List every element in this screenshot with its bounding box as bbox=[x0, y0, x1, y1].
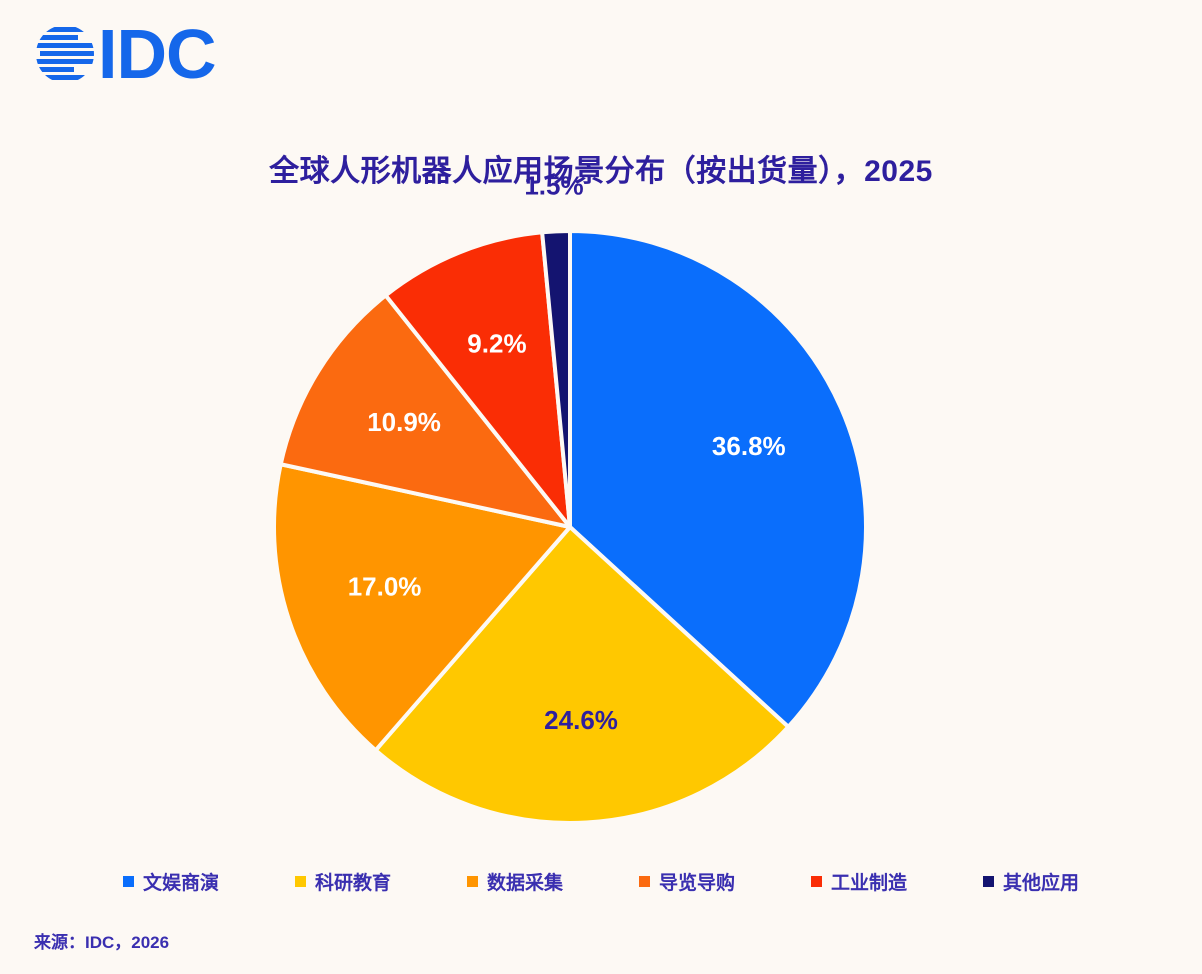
legend-item[interactable]: 文娱商演 bbox=[123, 868, 219, 895]
legend-item-label: 工业制造 bbox=[831, 868, 907, 895]
pie-slice[interactable] bbox=[376, 527, 789, 823]
legend-swatch-icon bbox=[123, 876, 134, 887]
pie-label-group: 36.8%24.6%17.0%10.9%9.2%1.5% bbox=[348, 170, 786, 735]
legend-item-label: 其他应用 bbox=[1003, 868, 1079, 895]
pie-slice[interactable] bbox=[542, 231, 570, 527]
legend-item-label: 科研教育 bbox=[315, 868, 391, 895]
legend-item[interactable]: 导览导购 bbox=[639, 868, 735, 895]
pie-slice[interactable] bbox=[274, 464, 570, 750]
legend-item[interactable]: 其他应用 bbox=[983, 868, 1079, 895]
idc-logo: IDC bbox=[34, 16, 216, 92]
chart-legend: 文娱商演科研教育数据采集导览导购工业制造其他应用 bbox=[0, 868, 1202, 895]
chart-title: 全球人形机器人应用场景分布（按出货量），2025 bbox=[0, 146, 1202, 190]
pie-slice[interactable] bbox=[570, 231, 866, 727]
pie-slice-label: 9.2% bbox=[467, 329, 526, 359]
pie-slice[interactable] bbox=[281, 295, 570, 527]
legend-swatch-icon bbox=[811, 876, 822, 887]
idc-logo-text: IDC bbox=[98, 23, 216, 85]
source-note: 来源：IDC，2026 bbox=[34, 928, 169, 953]
legend-swatch-icon bbox=[295, 876, 306, 887]
legend-swatch-icon bbox=[983, 876, 994, 887]
legend-item-label: 数据采集 bbox=[487, 868, 563, 895]
legend-item-label: 文娱商演 bbox=[143, 868, 219, 895]
legend-item[interactable]: 数据采集 bbox=[467, 868, 563, 895]
pie-slice-label: 17.0% bbox=[348, 571, 422, 601]
legend-item[interactable]: 工业制造 bbox=[811, 868, 907, 895]
legend-swatch-icon bbox=[467, 876, 478, 887]
pie-slice-label: 36.8% bbox=[712, 431, 786, 461]
striped-globe-icon bbox=[34, 23, 96, 85]
pie-slice[interactable] bbox=[386, 232, 570, 527]
pie-slice-group bbox=[274, 231, 866, 823]
legend-item[interactable]: 科研教育 bbox=[295, 868, 391, 895]
legend-item-label: 导览导购 bbox=[659, 868, 735, 895]
legend-swatch-icon bbox=[639, 876, 650, 887]
pie-slice-label: 24.6% bbox=[544, 705, 618, 735]
pie-slice-label: 10.9% bbox=[367, 407, 441, 437]
